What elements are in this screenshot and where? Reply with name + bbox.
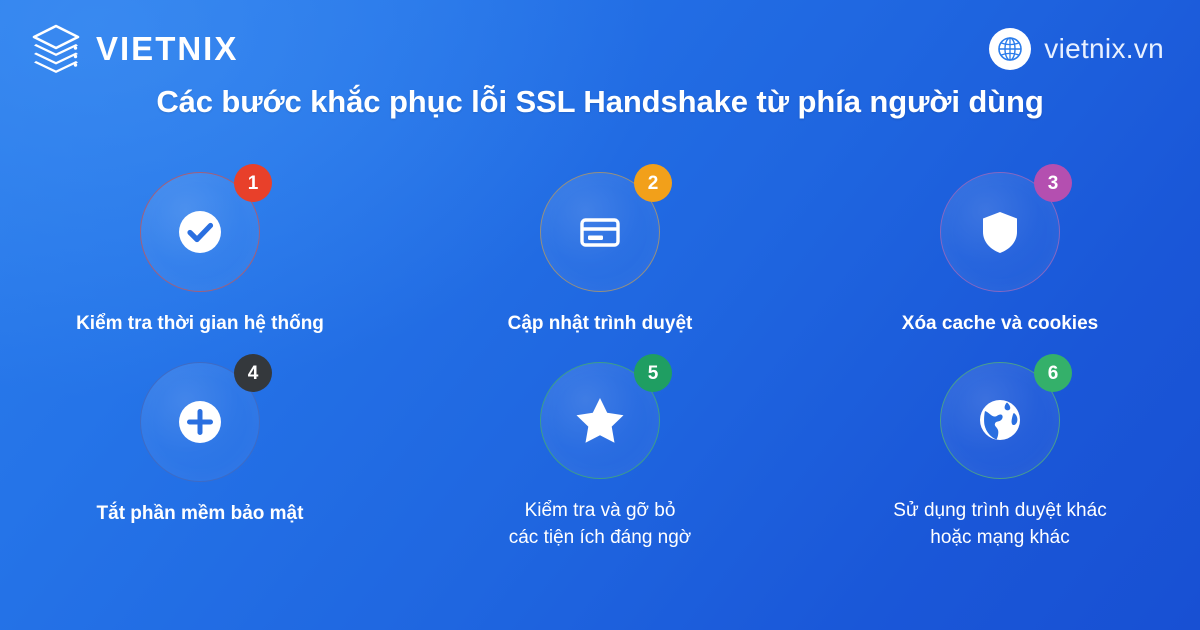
step-label-5: Kiểm tra và gỡ bỏ các tiện ích đáng ngờ (509, 497, 692, 552)
brand-name: VIETNIX (96, 32, 238, 65)
step-item-1[interactable]: 1 Kiểm tra thời gian hệ thống (0, 172, 400, 362)
site-url-text: vietnix.vn (1044, 35, 1164, 63)
step-label-4: Tắt phần mềm bảo mật (97, 500, 304, 528)
steps-grid: 1 Kiểm tra thời gian hệ thống 2 Cập nhật… (0, 172, 1200, 552)
step-label-6: Sử dụng trình duyệt khác hoặc mạng khác (893, 497, 1106, 552)
infographic-canvas: VIETNIX vietnix.vn Các bước khắc phục lỗ… (0, 0, 1200, 630)
step-circle-4: 4 (140, 362, 260, 482)
step-number-badge-6: 6 (1034, 354, 1072, 392)
step-label-2: Cập nhật trình duyệt (508, 310, 693, 338)
step-item-5[interactable]: 5 Kiểm tra và gỡ bỏ các tiện ích đáng ng… (400, 362, 800, 552)
step-circle-3: 3 (940, 172, 1060, 292)
step-number-badge-4: 4 (234, 354, 272, 392)
step-circle-5: 5 (540, 362, 660, 479)
step-label-3: Xóa cache và cookies (902, 310, 1098, 338)
step-circle-1: 1 (140, 172, 260, 292)
step-item-2[interactable]: 2 Cập nhật trình duyệt (400, 172, 800, 362)
step-item-4[interactable]: 4 Tắt phần mềm bảo mật (0, 362, 400, 552)
step-number-badge-1: 1 (234, 164, 272, 202)
step-circle-6: 6 (940, 362, 1060, 479)
step-item-3[interactable]: 3 Xóa cache và cookies (800, 172, 1200, 362)
step-number-badge-2: 2 (634, 164, 672, 202)
step-number-badge-3: 3 (1034, 164, 1072, 202)
step-label-1: Kiểm tra thời gian hệ thống (76, 310, 324, 338)
page-title: Các bước khắc phục lỗi SSL Handshake từ … (0, 84, 1200, 120)
brand-logo-group: VIETNIX (30, 22, 238, 74)
stacked-layers-icon (30, 22, 82, 74)
site-url-group[interactable]: vietnix.vn (989, 28, 1164, 70)
globe-icon (989, 28, 1031, 70)
step-item-6[interactable]: 6 Sử dụng trình duyệt khác hoặc mạng khá… (800, 362, 1200, 552)
step-number-badge-5: 5 (634, 354, 672, 392)
step-circle-2: 2 (540, 172, 660, 292)
